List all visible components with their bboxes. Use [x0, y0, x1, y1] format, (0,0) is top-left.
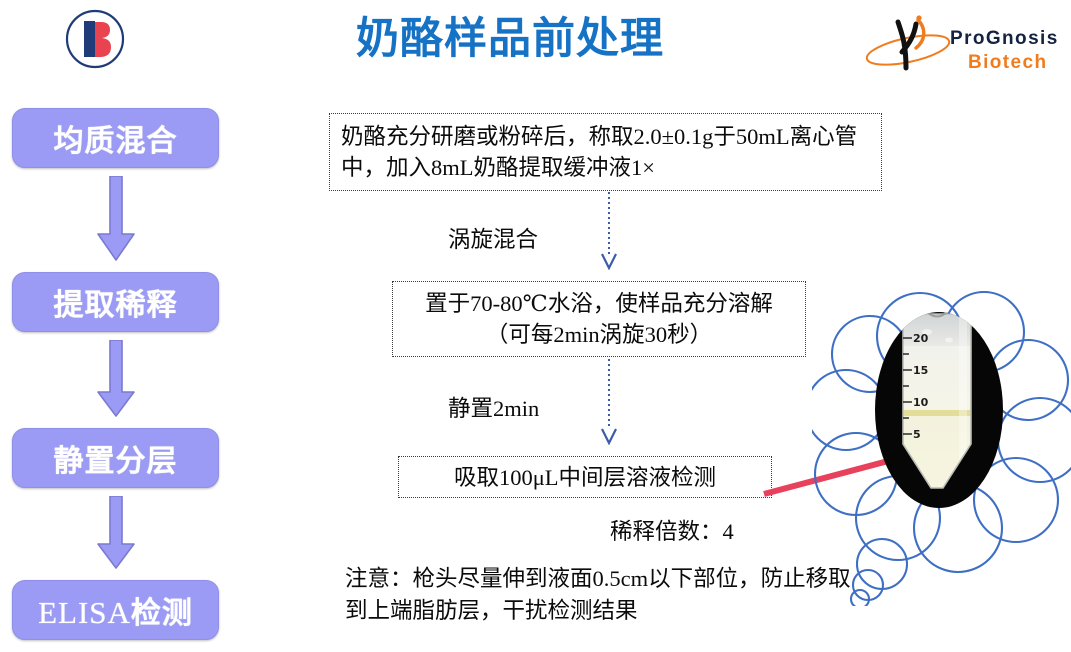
- flow-step-label: ELISA检测: [38, 588, 193, 632]
- dotted-arrow-down-1: [598, 192, 620, 270]
- tube-tick-20: 20: [913, 332, 929, 345]
- flow-step-settle-layer[interactable]: 静置分层: [12, 428, 219, 488]
- caption-rest-2min: 静置2min: [448, 391, 539, 423]
- prognosis-biotech-logo: ProGnosis Biotech: [862, 8, 1057, 80]
- prognosis-wordmark: ProGnosis: [950, 28, 1059, 50]
- procedure-box-aspirate-middle-layer: 吸取100μL中间层溶液检测: [398, 456, 772, 498]
- tube-tick-10: 10: [913, 396, 929, 409]
- flow-arrow-down-1: [92, 176, 140, 264]
- note-warning-text: 注意：枪头尽量伸到液面0.5cm以下部位，防止移取到上端脂肪层，干扰检测结果: [345, 563, 865, 627]
- flow-step-label: 均质混合: [54, 116, 178, 160]
- tube-tick-5: 5: [913, 428, 921, 441]
- flow-arrow-down-3: [92, 496, 140, 572]
- tube-tick-15: 15: [913, 364, 928, 377]
- page-title: 奶酪样品前处理: [300, 4, 720, 66]
- flow-step-label: 提取稀释: [54, 280, 178, 324]
- biotech-wordmark: Biotech: [968, 52, 1047, 74]
- caption-dilution-factor: 稀释倍数：4: [610, 514, 734, 546]
- flow-step-label: 静置分层: [54, 436, 178, 480]
- caption-vortex-mix: 涡旋混合: [448, 222, 538, 254]
- centrifuge-tube-photo: 20 15 10 5: [875, 312, 1003, 508]
- procedure-box-water-bath: 置于70-80℃水浴，使样品充分溶解（可每2min涡旋30秒）: [392, 281, 806, 357]
- procedure-box-weigh-sample: 奶酪充分研磨或粉碎后，称取2.0±0.1g于50mL离心管中，加入8mL奶酪提取…: [329, 113, 882, 191]
- brand-logo: [64, 8, 126, 70]
- flow-arrow-down-2: [92, 340, 140, 420]
- flow-step-elisa-detection[interactable]: ELISA检测: [12, 580, 219, 640]
- flow-step-extract-dilute[interactable]: 提取稀释: [12, 272, 219, 332]
- flow-step-homogenize[interactable]: 均质混合: [12, 108, 219, 168]
- dotted-arrow-down-2: [598, 359, 620, 445]
